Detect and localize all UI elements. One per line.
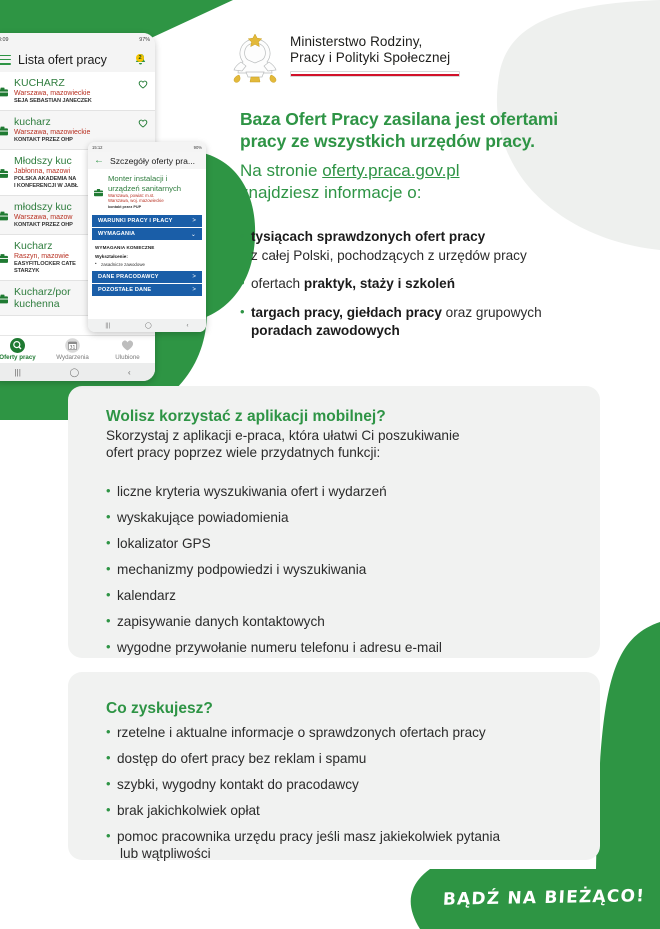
accordion-wymagania[interactable]: WYMAGANIA ⌄ <box>92 228 202 240</box>
page-title-line2: pracy ze wszystkich urzędów pracy. <box>240 131 535 151</box>
offer-detail-header: Monter instalacji i urządzeń sanitarnych… <box>88 169 206 213</box>
intro-subtitle-line2: znajdziesz informacje o: <box>240 182 640 204</box>
requirements-value: zasadnicze zawodowe <box>95 262 199 267</box>
phone-mockup-offer-details: 15:12 90% ← Szczegóły oferty pra... Mont… <box>88 142 206 332</box>
card-app-title: Wolisz korzystać z aplikacji mobilnej? <box>106 408 574 426</box>
offer-location: Warszawa, mazow <box>14 213 73 222</box>
intro-bullet-list: tysiącach sprawdzonych ofert pracy z cał… <box>240 228 648 351</box>
hamburger-menu-icon[interactable] <box>0 55 11 65</box>
offer-employer: KONTAKT PRZEZ OHP <box>14 137 90 144</box>
accordion-warunki-pracy-i-placy[interactable]: WARUNKI PRACY I PŁACY > <box>92 215 202 227</box>
intro-subtitle: Na stronie oferty.praca.gov.pl znajdzies… <box>240 160 640 204</box>
detail-job-title-line1: Monter instalacji i <box>108 174 181 184</box>
tab-label: Wydarzenia <box>56 354 89 361</box>
offer-employer: KONTAKT PRZEZ OHP <box>14 222 73 229</box>
list-item: rzetelne i aktualne informacje o sprawdz… <box>106 724 574 741</box>
bullet-line2-3: poradach zawodowych <box>251 322 648 341</box>
offer-title: Kucharz/por <box>14 286 71 298</box>
phone2-status-bar: 15:12 90% <box>88 142 206 152</box>
list-item: wyskakujące powiadomienia <box>106 509 574 526</box>
accordion-label: POZOSTAŁE DANE <box>98 287 151 293</box>
requirements-key: Wykształcenie: <box>95 254 199 259</box>
offer-title: kucharz <box>14 116 90 128</box>
phone2-app-bar: ← Szczegóły oferty pra... <box>88 152 206 169</box>
list-item[interactable]: KUCHARZ Warszawa, mazowieckie SEJA SEBAS… <box>0 72 155 111</box>
phone2-status-battery: 90% <box>194 145 202 150</box>
offer-title: Młodszy kuc <box>14 155 78 167</box>
polish-eagle-coat-of-arms-icon <box>232 32 278 86</box>
phone1-status-battery: 97% <box>139 37 150 43</box>
detail-job-title-line2: urządzeń sanitarnych <box>108 184 181 194</box>
polish-flag-bar-icon <box>290 71 460 77</box>
bullet-bold-3: targach pracy, giełdach pracy <box>251 305 442 320</box>
phone1-status-time: 13:09 <box>0 37 9 43</box>
offer-location: Warszawa, mazowieckie <box>14 89 92 98</box>
offer-employer: POLSKA AKADEMIA NA I KONFERENCJI W JABŁ <box>14 176 78 190</box>
card-benefits-title: Co zyskujesz? <box>106 700 574 718</box>
briefcase-icon <box>0 288 8 310</box>
briefcase-icon <box>0 242 8 275</box>
offer-location: Jabłonna, mazowi <box>14 167 78 176</box>
chevron-right-icon: > <box>192 287 196 293</box>
tab-label: Oferty pracy <box>0 354 36 361</box>
detail-location-line2: Warszawa, woj. mazowieckie <box>108 198 181 203</box>
briefcase-icon <box>0 203 8 229</box>
phone2-android-nav-bar: ||| ◯ ‹ <box>88 319 206 332</box>
tab-wydarzenia[interactable]: 31 Wydarzenia <box>45 336 100 363</box>
briefcase-icon <box>0 79 8 105</box>
card-app-para-line2: ofert pracy poprzez wiele przydatnych fu… <box>106 445 380 460</box>
bullet-line2-1: z całej Polski, pochodzących z urzędów p… <box>251 247 648 266</box>
list-item: dostęp do ofert pracy bez reklam i spamu <box>106 750 574 767</box>
list-item: zapisywanie danych kontaktowych <box>106 613 574 630</box>
offer-location: Warszawa, mazowieckie <box>14 128 90 137</box>
phone1-app-title: Lista ofert pracy <box>18 53 107 67</box>
ministry-name-line2: Pracy i Polityki Społecznej <box>290 50 460 66</box>
requirements-heading: WYMAGANIA KONIECZNE <box>95 245 199 250</box>
bullet-bold-2: praktyk, staży i szkoleń <box>304 276 455 291</box>
card-mobile-app: Wolisz korzystać z aplikacji mobilnej? S… <box>68 386 600 658</box>
card-app-para-line1: Skorzystaj z aplikacji e-praca, która uł… <box>106 428 460 443</box>
list-item: pomoc pracownika urzędu pracy jeśli masz… <box>106 828 574 862</box>
tab-oferty-pracy[interactable]: Oferty pracy <box>0 336 45 363</box>
list-item: tysiącach sprawdzonych ofert pracy z cał… <box>240 228 648 265</box>
accordion-label: WYMAGANIA <box>98 231 135 237</box>
list-item: brak jakichkolwiek opłat <box>106 802 574 819</box>
home-button[interactable]: ◯ <box>70 367 80 378</box>
intro-block: Baza Ofert Pracy zasilana jest ofertami … <box>240 108 640 204</box>
ministry-branding: Ministerstwo Rodziny, Pracy i Polityki S… <box>232 32 460 86</box>
list-item: ofertach praktyk, staży i szkoleń <box>240 275 648 294</box>
heart-outline-icon[interactable] <box>138 79 148 89</box>
back-button[interactable]: ‹ <box>187 323 189 329</box>
benefit-5-line2: lub wątpliwości <box>117 845 574 862</box>
list-item: targach pracy, giełdach pracy oraz grupo… <box>240 304 648 341</box>
briefcase-icon <box>0 118 8 144</box>
chevron-right-icon: > <box>192 218 196 224</box>
offer-location: Raszyn, mazowie <box>14 252 76 261</box>
calendar-31-icon: 31 <box>65 338 80 353</box>
home-button[interactable]: ◯ <box>145 322 152 329</box>
offer-employer: EASYFITLOCKER CATE STARZYK <box>14 261 76 275</box>
card-app-feature-list: liczne kryteria wyszukiwania ofert i wyd… <box>106 483 574 656</box>
search-icon <box>10 338 25 353</box>
chevron-right-icon: > <box>192 274 196 280</box>
offer-title-line2: kuchenna <box>14 298 71 310</box>
intro-subtitle-prefix: Na stronie <box>240 161 322 180</box>
card-benefits-list: rzetelne i aktualne informacje o sprawdz… <box>106 724 574 862</box>
phone1-status-bar: 13:09 97% <box>0 33 155 47</box>
list-item: lokalizator GPS <box>106 535 574 552</box>
list-item: kalendarz <box>106 587 574 604</box>
detail-contact-note: kontakt przez PUP <box>108 205 181 210</box>
accordion-pozostale-dane[interactable]: POZOSTAŁE DANE > <box>92 284 202 296</box>
benefit-5-line1: pomoc pracownika urzędu pracy jeśli masz… <box>117 829 500 844</box>
list-item: szybki, wygodny kontakt do pracodawcy <box>106 776 574 793</box>
bullet-bold-1: tysiącach sprawdzonych ofert pracy <box>251 229 485 244</box>
heart-icon <box>120 338 135 353</box>
accordion-dane-pracodawcy[interactable]: DANE PRACODAWCY > <box>92 271 202 283</box>
page-title: Baza Ofert Pracy zasilana jest ofertami … <box>240 108 640 152</box>
oferty-praca-gov-pl-link[interactable]: oferty.praca.gov.pl <box>322 161 459 180</box>
chevron-down-icon: ⌄ <box>191 231 196 238</box>
phone1-bottom-tab-bar: Oferty pracy 31 Wydarzenia Ulubione <box>0 335 155 363</box>
offer-title: KUCHARZ <box>14 77 92 89</box>
ministry-name-line1: Ministerstwo Rodziny, <box>290 34 460 50</box>
card-app-paragraph: Skorzystaj z aplikacji e-praca, która uł… <box>106 427 574 461</box>
back-button[interactable]: ‹ <box>128 367 131 377</box>
footer-slogan: BĄDŹ NA BIEŻĄCO! <box>442 886 645 910</box>
card-benefits: Co zyskujesz? rzetelne i aktualne inform… <box>68 672 600 860</box>
offer-title: młodszy kuc <box>14 201 73 213</box>
briefcase-icon <box>94 175 103 210</box>
phone2-status-time: 15:12 <box>92 145 102 150</box>
list-item: wygodne przywołanie numeru telefonu i ad… <box>106 639 574 656</box>
bullet-rest-3: oraz grupowych <box>442 305 542 320</box>
notification-badge-count: 2 <box>136 54 144 62</box>
list-item: mechanizmy podpowiedzi i wyszukiwania <box>106 561 574 578</box>
arrow-left-icon[interactable]: ← <box>94 156 104 166</box>
page-title-line1: Baza Ofert Pracy zasilana jest ofertami <box>240 109 558 129</box>
bullet-pre-2: ofertach <box>251 276 304 291</box>
recents-button[interactable]: ||| <box>105 323 110 329</box>
svg-text:31: 31 <box>70 344 76 350</box>
offer-employer: SEJA SEBASTIAN JANECZEK <box>14 98 92 105</box>
offer-title: Kucharz <box>14 240 76 252</box>
notification-bell-icon[interactable]: 2 <box>133 52 148 67</box>
tab-label: Ulubione <box>115 354 139 361</box>
tab-ulubione[interactable]: Ulubione <box>100 336 155 363</box>
heart-outline-icon[interactable] <box>138 118 148 128</box>
recents-button[interactable]: ||| <box>14 367 21 377</box>
requirements-panel: WYMAGANIA KONIECZNE Wykształcenie: zasad… <box>88 242 206 267</box>
briefcase-icon <box>0 157 8 190</box>
accordion-label: DANE PRACODAWCY <box>98 274 159 280</box>
accordion-label: WARUNKI PRACY I PŁACY <box>98 218 173 224</box>
list-item: liczne kryteria wyszukiwania ofert i wyd… <box>106 483 574 500</box>
phone1-android-nav-bar: ||| ◯ ‹ <box>0 363 155 381</box>
phone2-app-title: Szczegóły oferty pra... <box>110 156 195 166</box>
phone1-app-bar: Lista ofert pracy 2 <box>0 47 155 72</box>
